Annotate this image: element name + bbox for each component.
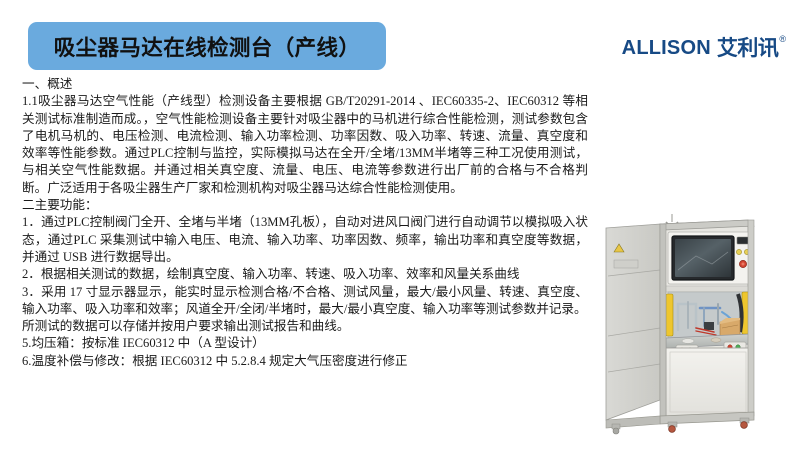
section-two-item: 1．通过PLC控制阀门全开、全堵与半堵（13MM孔板），自动对进风口阀门进行自动… <box>22 214 588 266</box>
section-one-heading: 一、概述 <box>22 76 588 93</box>
lower-cabinet-door <box>666 348 750 416</box>
frame-extrusion <box>748 220 754 416</box>
brand-chinese-text: 艾利讯 <box>717 36 779 60</box>
control-button <box>736 249 741 254</box>
slide-body-text: 一、概述 1.1吸尘器马达空气性能（产线型）检测设备主要根据 GB/T20291… <box>22 76 588 370</box>
frame-extrusion <box>660 224 666 420</box>
registered-trademark-icon: ® <box>779 35 786 44</box>
section-two-item: 5.均压箱：按标准 IEC60312 中（A 型设计） <box>22 335 588 352</box>
caster-wheel <box>612 424 620 434</box>
brand-logo: ALLISON 艾利讯 ® <box>622 36 786 66</box>
brand-latin-text: ALLISON <box>622 36 711 60</box>
testing-machine-photo <box>592 212 794 438</box>
section-two-heading: 二主要功能： <box>22 197 588 214</box>
safety-light-curtain <box>666 294 673 336</box>
page-title: 吸尘器马达在线检测台（产线） <box>54 31 361 62</box>
section-two-item: 所测试的数据可以存储并按用户要求输出测试报告和曲线。 <box>22 318 588 335</box>
section-two-item: 2．根据相关测试的数据，绘制真空度、输入功率、转速、吸入功率、效率和风量关系曲线 <box>22 266 588 283</box>
slide-title-banner: 吸尘器马达在线检测台（产线） <box>28 22 386 70</box>
section-two-item: 3．采用 17 寸显示器显示，能实时显示检测合格/不合格、测试风量，最大/最小风… <box>22 284 588 319</box>
slide-canvas: 吸尘器马达在线检测台（产线） ALLISON 艾利讯 ® 一、概述 1.1吸尘器… <box>0 0 800 450</box>
section-two-item: 6.温度补偿与修改：根据 IEC60312 中 5.2.8.4 规定大气压密度进… <box>22 353 588 370</box>
section-one-body: 1.1吸尘器马达空气性能（产线型）检测设备主要根据 GB/T20291-2014… <box>22 93 588 197</box>
digital-readout <box>737 237 749 244</box>
